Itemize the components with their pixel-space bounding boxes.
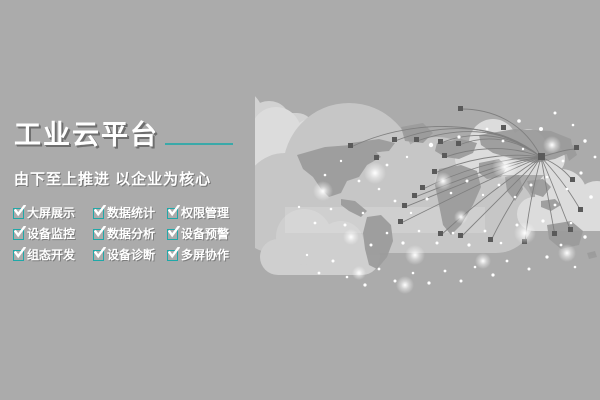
checkbox-checked-icon[interactable]	[93, 228, 105, 240]
feature-item[interactable]: 数据分析	[93, 225, 165, 242]
checkbox-checked-icon[interactable]	[13, 207, 25, 219]
checkbox-checked-icon[interactable]	[167, 249, 179, 261]
feature-item[interactable]: 多屏协作	[167, 246, 245, 263]
feature-item[interactable]: 权限管理	[167, 204, 245, 221]
page-subtitle: 由下至上推进 以企业为核心	[14, 168, 211, 189]
cloud-network-graphic	[255, 85, 600, 310]
feature-item[interactable]: 设备预警	[167, 225, 245, 242]
feature-label: 大屏展示	[27, 204, 75, 221]
checkbox-checked-icon[interactable]	[13, 249, 25, 261]
title-accent-rule	[165, 143, 233, 145]
feature-item[interactable]: 设备监控	[13, 225, 91, 242]
feature-label: 数据统计	[107, 204, 155, 221]
industrial-cloud-platform-banner: 工业云平台 由下至上推进 以企业为核心 大屏展示数据统计权限管理设备监控数据分析…	[0, 0, 600, 400]
checkbox-checked-icon[interactable]	[167, 228, 179, 240]
feature-label: 多屏协作	[181, 246, 229, 263]
banner-text-block: 工业云平台 由下至上推进 以企业为核心 大屏展示数据统计权限管理设备监控数据分析…	[0, 0, 260, 400]
checkbox-checked-icon[interactable]	[93, 207, 105, 219]
checkbox-checked-icon[interactable]	[93, 249, 105, 261]
feature-item[interactable]: 数据统计	[93, 204, 165, 221]
sparkle-particles	[255, 85, 600, 310]
feature-label: 权限管理	[181, 204, 229, 221]
feature-label: 设备监控	[27, 225, 75, 242]
feature-checklist: 大屏展示数据统计权限管理设备监控数据分析设备预警组态开发设备诊断多屏协作	[13, 204, 245, 263]
checkbox-checked-icon[interactable]	[13, 228, 25, 240]
feature-label: 数据分析	[107, 225, 155, 242]
title-row: 工业云平台	[14, 122, 233, 149]
page-title: 工业云平台	[14, 122, 159, 149]
checkbox-checked-icon[interactable]	[167, 207, 179, 219]
feature-label: 设备预警	[181, 225, 229, 242]
feature-item[interactable]: 组态开发	[13, 246, 91, 263]
feature-item[interactable]: 设备诊断	[93, 246, 165, 263]
feature-item[interactable]: 大屏展示	[13, 204, 91, 221]
feature-label: 设备诊断	[107, 246, 155, 263]
feature-label: 组态开发	[27, 246, 75, 263]
